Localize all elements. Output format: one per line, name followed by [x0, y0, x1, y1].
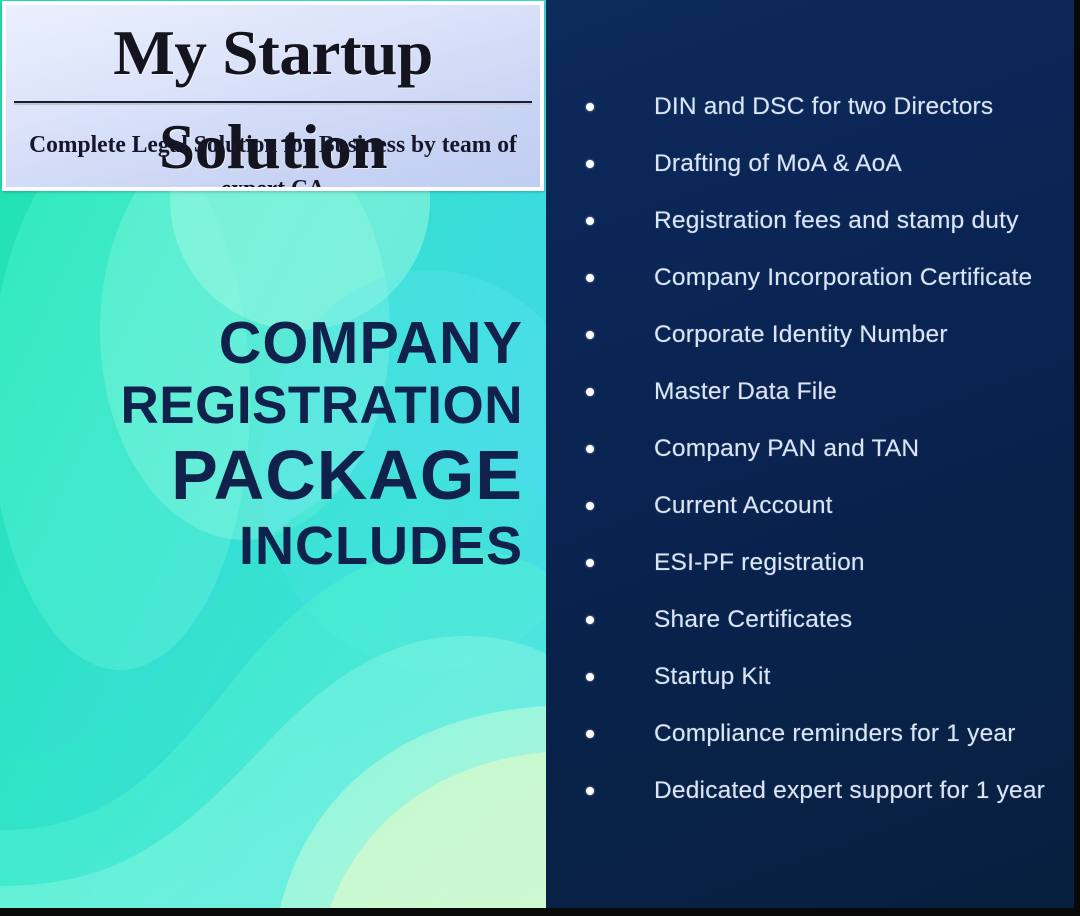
bullet-dot-icon	[586, 217, 594, 225]
right-navy-panel: DIN and DSC for two DirectorsDrafting of…	[546, 0, 1074, 908]
package-inclusions-list: DIN and DSC for two DirectorsDrafting of…	[582, 78, 1064, 819]
promotional-poster: My Startup Solution Complete Legal Solut…	[0, 0, 1080, 916]
bullet-dot-icon	[586, 787, 594, 795]
list-item-label: Current Account	[654, 492, 833, 519]
list-item: Drafting of MoA & AoA	[582, 135, 1064, 192]
list-item-label: ESI-PF registration	[654, 549, 865, 576]
headline-line-4: INCLUDES	[0, 513, 523, 579]
list-item: DIN and DSC for two Directors	[582, 78, 1064, 135]
list-item-label: Company Incorporation Certificate	[654, 264, 1032, 291]
bullet-dot-icon	[586, 103, 594, 111]
list-item-label: Share Certificates	[654, 606, 852, 633]
list-item: Corporate Identity Number	[582, 306, 1064, 363]
list-item-label: Dedicated expert support for 1 year	[654, 777, 1045, 804]
bullet-dot-icon	[586, 673, 594, 681]
bullet-dot-icon	[586, 616, 594, 624]
logo-divider-rule	[14, 101, 532, 105]
list-item: ESI-PF registration	[582, 534, 1064, 591]
headline-line-1: COMPANY	[0, 312, 523, 375]
package-headline: COMPANY REGISTRATION PACKAGE INCLUDES	[0, 312, 523, 579]
bullet-dot-icon	[586, 160, 594, 168]
company-logo-plate: My Startup Solution Complete Legal Solut…	[2, 1, 544, 191]
frame-edge-right	[1074, 0, 1080, 916]
list-item: Dedicated expert support for 1 year	[582, 762, 1064, 819]
headline-line-3: PACKAGE	[0, 437, 523, 513]
bullet-dot-icon	[586, 445, 594, 453]
list-item: Share Certificates	[582, 591, 1064, 648]
bullet-dot-icon	[586, 274, 594, 282]
list-item: Compliance reminders for 1 year	[582, 705, 1064, 762]
bullet-dot-icon	[586, 331, 594, 339]
list-item-label: Master Data File	[654, 378, 837, 405]
list-item: Company Incorporation Certificate	[582, 249, 1064, 306]
list-item-label: DIN and DSC for two Directors	[654, 93, 993, 120]
list-item-label: Company PAN and TAN	[654, 435, 919, 462]
list-item: Master Data File	[582, 363, 1064, 420]
brand-tagline: Complete Legal Solution for Business by …	[11, 123, 534, 191]
left-teal-panel: My Startup Solution Complete Legal Solut…	[0, 0, 547, 908]
frame-edge-bottom	[0, 908, 1080, 916]
list-item: Startup Kit	[582, 648, 1064, 705]
list-item: Company PAN and TAN	[582, 420, 1064, 477]
list-item-label: Registration fees and stamp duty	[654, 207, 1019, 234]
bullet-dot-icon	[586, 502, 594, 510]
headline-line-2: REGISTRATION	[0, 375, 523, 437]
list-item-label: Corporate Identity Number	[654, 321, 948, 348]
bullet-dot-icon	[586, 559, 594, 567]
bullet-dot-icon	[586, 730, 594, 738]
list-item-label: Drafting of MoA & AoA	[654, 150, 902, 177]
list-item-label: Compliance reminders for 1 year	[654, 720, 1016, 747]
list-item-label: Startup Kit	[654, 663, 771, 690]
list-item: Registration fees and stamp duty	[582, 192, 1064, 249]
list-item: Current Account	[582, 477, 1064, 534]
bullet-dot-icon	[586, 388, 594, 396]
